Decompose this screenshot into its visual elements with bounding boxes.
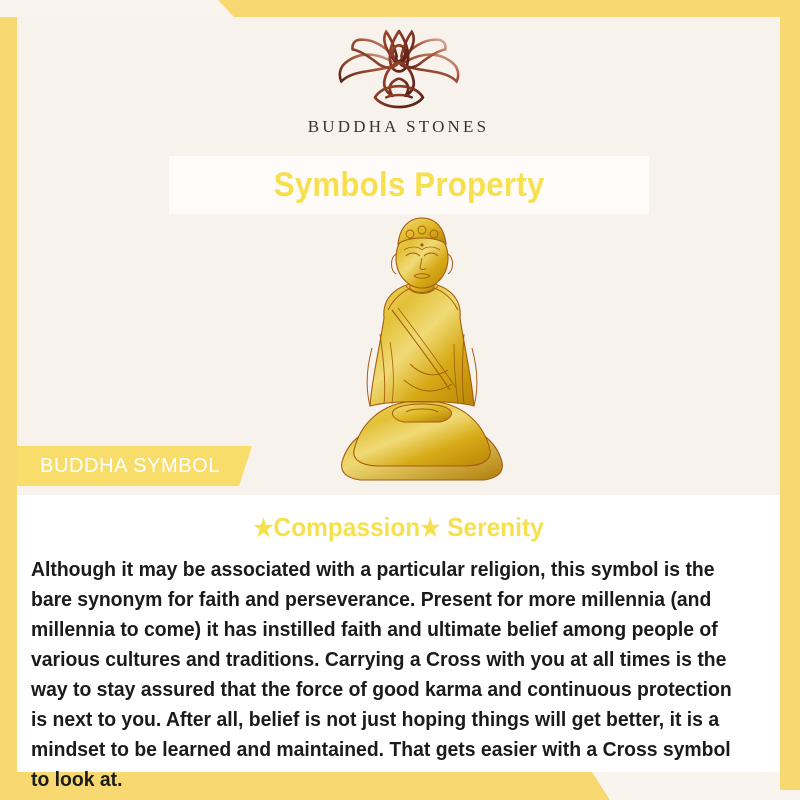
lotus-meditation-icon bbox=[319, 27, 479, 113]
lower-section: ★Compassion★ Serenity Although it may be… bbox=[17, 495, 780, 772]
page-title: Symbols Property bbox=[274, 166, 545, 205]
heading-serenity: Serenity bbox=[447, 512, 543, 542]
decor-bar-left bbox=[0, 17, 17, 800]
decor-bar-right bbox=[780, 0, 800, 790]
title-banner: Symbols Property bbox=[169, 156, 649, 214]
body-paragraph: Although it may be associated with a par… bbox=[31, 555, 745, 795]
brand-logo: BUDDHA STONES bbox=[17, 27, 780, 137]
buddha-symbol-ribbon: BUDDHA SYMBOL bbox=[17, 446, 252, 486]
brand-name: BUDDHA STONES bbox=[308, 117, 490, 137]
upper-section: BUDDHA STONES Symbols Property bbox=[17, 17, 780, 495]
star-icon-left: ★ bbox=[253, 515, 273, 542]
golden-seated-buddha-statue bbox=[332, 214, 512, 506]
ribbon-label: BUDDHA SYMBOL bbox=[40, 455, 220, 478]
decor-bar-top bbox=[0, 0, 800, 17]
content-heading: ★Compassion★ Serenity bbox=[40, 512, 757, 543]
poster-root: BUDDHA STONES Symbols Property bbox=[0, 0, 800, 800]
star-icon-right: ★ bbox=[420, 515, 440, 542]
heading-compassion: Compassion bbox=[274, 512, 421, 542]
